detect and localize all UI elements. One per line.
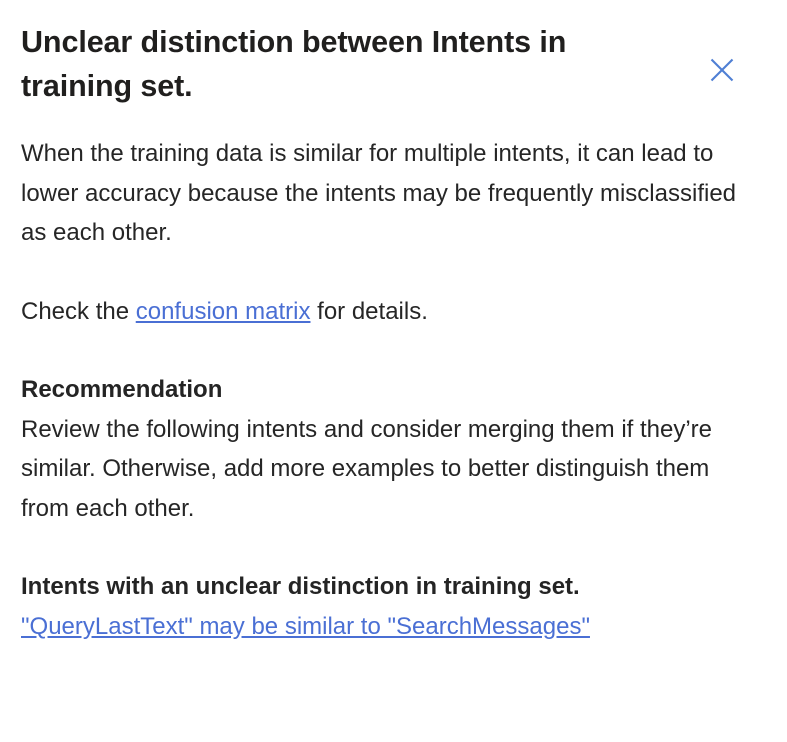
explanation-paragraph: When the training data is similar for mu… <box>21 134 749 253</box>
confusion-matrix-link[interactable]: confusion matrix <box>136 298 311 325</box>
check-line-suffix: for details. <box>310 298 427 325</box>
recommendation-section: Recommendation Review the following inte… <box>21 370 749 528</box>
recommendation-heading: Recommendation <box>21 370 749 410</box>
list-item: "QueryLastText" may be similar to "Searc… <box>21 607 749 647</box>
unclear-intents-section: Intents with an unclear distinction in t… <box>21 567 749 646</box>
check-line-prefix: Check the <box>21 298 136 325</box>
panel-body: When the training data is similar for mu… <box>21 134 749 646</box>
intent-pair-link[interactable]: "QueryLastText" may be similar to "Searc… <box>21 613 590 640</box>
insight-detail-panel: Unclear distinction between Intents in t… <box>0 0 787 742</box>
close-icon <box>709 57 735 83</box>
page-title: Unclear distinction between Intents in t… <box>21 20 671 108</box>
check-confusion-matrix-line: Check the confusion matrix for details. <box>21 292 749 332</box>
unclear-intents-heading: Intents with an unclear distinction in t… <box>21 567 749 607</box>
close-button[interactable] <box>706 54 738 86</box>
panel-header: Unclear distinction between Intents in t… <box>21 20 766 108</box>
recommendation-paragraph: Review the following intents and conside… <box>21 410 749 529</box>
